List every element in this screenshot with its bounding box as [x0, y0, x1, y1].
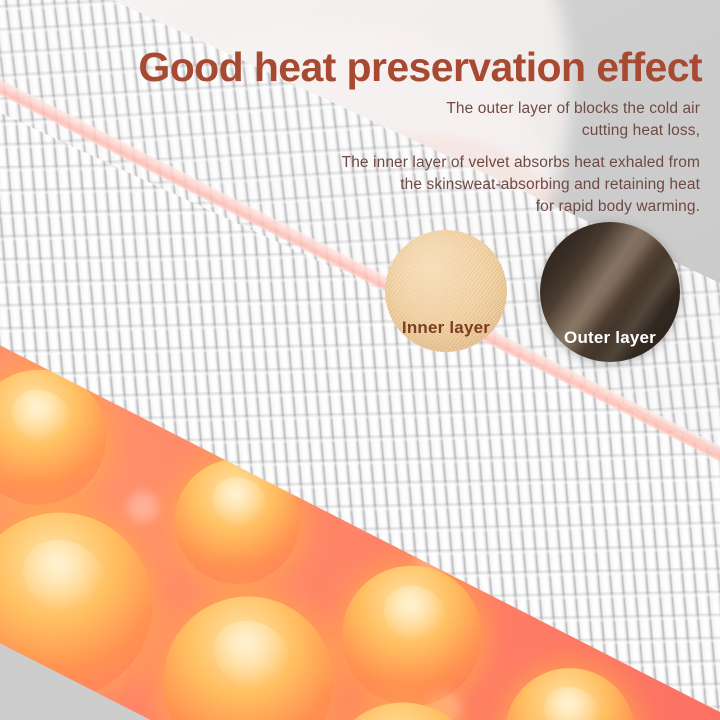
paragraph-line: The inner layer of velvet absorbs heat e…: [270, 152, 700, 174]
swatch-outer-label: Outer layer: [564, 328, 656, 362]
swatch-inner-layer[interactable]: Inner layer: [385, 230, 507, 352]
product-feature-graphic: Good heat preservation effect The outer …: [0, 0, 720, 720]
paragraph-line: cutting heat loss,: [270, 120, 700, 142]
paragraph-line: the skinsweat-absorbing and retaining he…: [270, 174, 700, 196]
paragraph-inner-layer: The inner layer of velvet absorbs heat e…: [270, 152, 700, 218]
swatch-inner-label: Inner layer: [402, 318, 490, 352]
paragraph-line: for rapid body warming.: [270, 196, 700, 218]
swatch-outer-layer[interactable]: Outer layer: [540, 222, 680, 362]
paragraph-outer-layer: The outer layer of blocks the cold air c…: [270, 98, 700, 142]
page-title: Good heat preservation effect: [0, 44, 702, 91]
paragraph-line: The outer layer of blocks the cold air: [270, 98, 700, 120]
